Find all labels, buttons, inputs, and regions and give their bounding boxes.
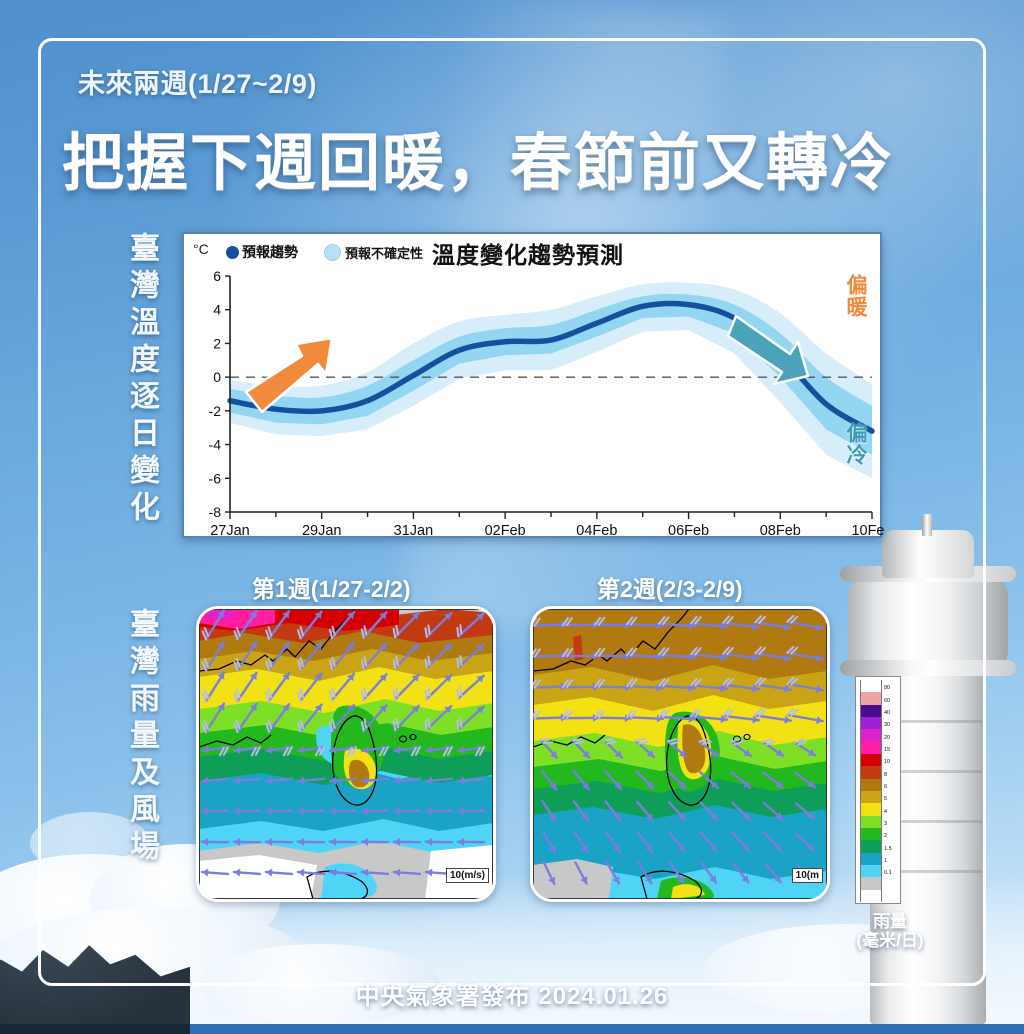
svg-text:31Jan: 31Jan bbox=[394, 523, 434, 539]
svg-text:08Feb: 08Feb bbox=[760, 523, 801, 539]
colorbar-tick-label: 15 bbox=[884, 748, 890, 754]
svg-text:-8: -8 bbox=[209, 504, 222, 520]
colorbar-caption-line1: 雨量 bbox=[855, 912, 925, 931]
rainfall-colorbar-legend: 806040302015108654321.510.1 雨量 (毫米/日) bbox=[855, 676, 925, 950]
page-title: 把握下週回暖，春節前又轉冷 bbox=[62, 112, 894, 202]
svg-text:04Feb: 04Feb bbox=[576, 523, 617, 539]
wind-scale-label-2: 10(m bbox=[792, 868, 823, 883]
colorbar-segment bbox=[860, 803, 882, 815]
colorbar-segment bbox=[860, 766, 882, 778]
annotation-warmer: 偏暖 bbox=[844, 274, 866, 318]
annotation-colder: 偏冷 bbox=[844, 422, 866, 466]
colorbar-segment bbox=[860, 742, 882, 754]
svg-text:02Feb: 02Feb bbox=[485, 523, 526, 539]
map-week1-svg bbox=[199, 609, 493, 899]
colorbar-segment bbox=[860, 853, 882, 865]
colorbar-tick-label: 2 bbox=[884, 834, 887, 840]
colorbar-segment bbox=[860, 865, 882, 877]
colorbar-tick-label: 40 bbox=[884, 711, 890, 717]
colorbar-segment bbox=[860, 791, 882, 803]
colorbar-segment bbox=[860, 816, 882, 828]
map-title-week1: 第1週(1/27-2/2) bbox=[252, 570, 411, 604]
rainfall-wind-map-week2[interactable]: 10(m bbox=[530, 606, 830, 902]
colorbar-segment bbox=[860, 890, 882, 902]
wind-scale-label-1: 10(m/s) bbox=[446, 868, 489, 883]
colorbar-segment bbox=[860, 680, 882, 692]
colorbar-swatches bbox=[860, 680, 882, 902]
colorbar-segment bbox=[860, 877, 882, 889]
legend-label-trend: 預報趨勢 bbox=[242, 242, 298, 262]
svg-text:06Feb: 06Feb bbox=[668, 523, 709, 539]
svg-text:27Jan: 27Jan bbox=[210, 523, 250, 539]
axis-unit-label: °C bbox=[193, 241, 209, 257]
legend-label-uncertainty: 預報不確定性 bbox=[345, 243, 423, 262]
colorbar-caption-line2: (毫米/日) bbox=[855, 931, 925, 950]
legend-marker-uncertainty bbox=[324, 244, 341, 261]
svg-text:2: 2 bbox=[213, 335, 221, 351]
colorbar-segment bbox=[860, 705, 882, 717]
rainfall-wind-map-week1[interactable]: 10(m/s) bbox=[196, 606, 496, 902]
colorbar-caption: 雨量 (毫米/日) bbox=[855, 912, 925, 950]
map-title-week2: 第2週(2/3-2/9) bbox=[597, 570, 743, 604]
temperature-chart-panel: °C 預報趨勢 預報不確定性 溫度變化趨勢預測 -8-6-4-2024627Ja… bbox=[182, 232, 882, 538]
colorbar-tick-label: 60 bbox=[884, 699, 890, 705]
colorbar-tick-label: 30 bbox=[884, 723, 890, 729]
svg-text:4: 4 bbox=[213, 302, 221, 318]
svg-text:10Feb: 10Feb bbox=[851, 523, 884, 539]
section-label-rainfall: 臺灣雨量及風場 bbox=[110, 608, 156, 867]
colorbar-segment bbox=[860, 754, 882, 766]
colorbar-frame: 806040302015108654321.510.1 bbox=[855, 676, 901, 904]
kicker-text: 未來兩週(1/27~2/9) bbox=[78, 62, 317, 101]
colorbar-tick-label: 0.1 bbox=[884, 871, 892, 877]
chart-plot-area: -8-6-4-2024627Jan29Jan31Jan02Feb04Feb06F… bbox=[184, 264, 884, 540]
colorbar-segment bbox=[860, 692, 882, 704]
svg-text:-6: -6 bbox=[209, 470, 222, 486]
svg-text:-2: -2 bbox=[209, 403, 222, 419]
colorbar-segment bbox=[860, 717, 882, 729]
svg-text:0: 0 bbox=[213, 369, 221, 385]
colorbar-tick-label: 1.5 bbox=[884, 847, 892, 853]
temperature-trend-svg: -8-6-4-2024627Jan29Jan31Jan02Feb04Feb06F… bbox=[184, 264, 884, 540]
section-label-temperature: 臺灣溫度逐日變化 bbox=[110, 232, 156, 528]
colorbar-segment bbox=[860, 840, 882, 852]
colorbar-tick-labels: 806040302015108654321.510.1 bbox=[882, 677, 902, 899]
colorbar-tick-label: 3 bbox=[884, 822, 887, 828]
colorbar-segment bbox=[860, 729, 882, 741]
colorbar-segment bbox=[860, 779, 882, 791]
colorbar-tick-label: 1 bbox=[884, 859, 887, 865]
colorbar-tick-label: 80 bbox=[884, 686, 890, 692]
footer-credit: 中央氣象署發布 2024.01.26 bbox=[0, 976, 1024, 1011]
svg-text:29Jan: 29Jan bbox=[302, 523, 342, 539]
colorbar-tick-label: 20 bbox=[884, 736, 890, 742]
legend-marker-trend bbox=[226, 246, 239, 259]
map-week2-svg bbox=[533, 609, 827, 899]
colorbar-tick-label: 4 bbox=[884, 810, 887, 816]
colorbar-tick-label: 10 bbox=[884, 760, 890, 766]
colorbar-tick-label: 5 bbox=[884, 797, 887, 803]
colorbar-tick-label: 6 bbox=[884, 785, 887, 791]
svg-text:-4: -4 bbox=[209, 437, 222, 453]
svg-text:6: 6 bbox=[213, 268, 221, 284]
colorbar-segment bbox=[860, 828, 882, 840]
colorbar-tick-label: 8 bbox=[884, 773, 887, 779]
